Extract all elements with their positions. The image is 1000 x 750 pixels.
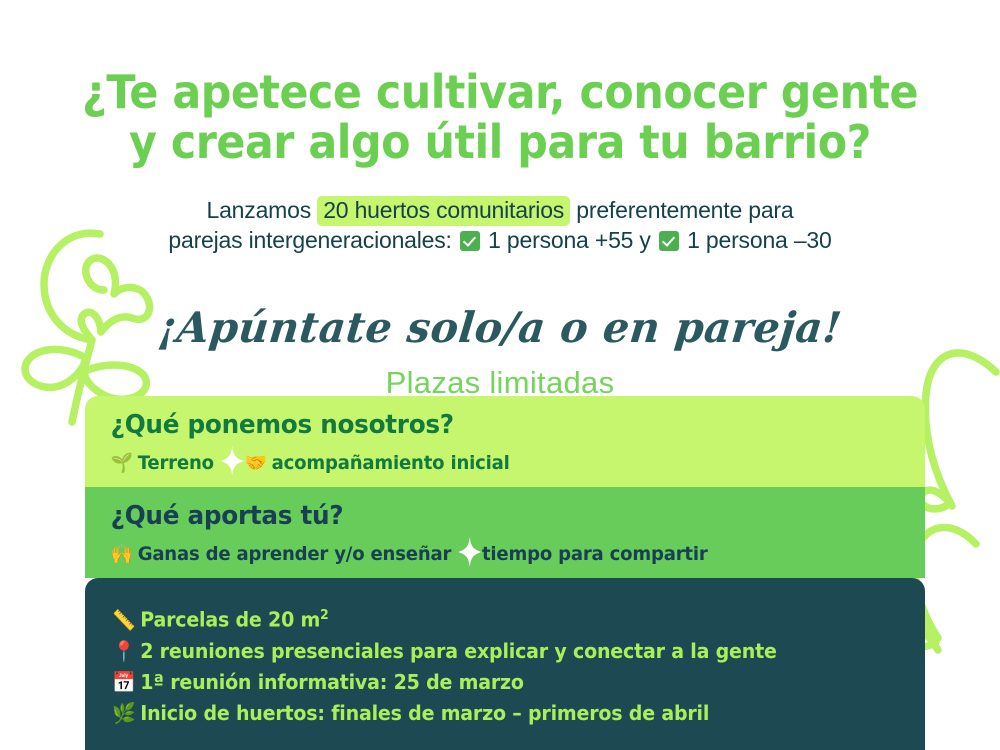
ruler-icon: 📏 [112,608,135,632]
panel-1-title: ¿Qué ponemos nosotros? [85,396,883,440]
panel-que-ponemos-nosotros: ¿Qué ponemos nosotros? 🌱Terreno 🤝acompañ… [85,396,925,487]
panel-2-title: ¿Qué aportas tú? [85,487,883,531]
panel-2-item-0-label: Ganas de aprender y/o enseñar [138,543,451,565]
raising-hands-icon: 🙌 [111,543,133,565]
sparkle-icon-2 [458,537,481,567]
details-list: 📏Parcelas de 20 m2 📍2 reuniones presenci… [85,578,925,729]
panel-1-item-0-label: Terreno [138,452,214,474]
subtitle: Lanzamos 20 huertos comunitarios prefere… [0,195,1000,255]
details-row-3-label: Inicio de huertos: finales de marzo – pr… [140,701,709,725]
panel-detalles: 📏Parcelas de 20 m2 📍2 reuniones presenci… [85,578,925,750]
subtitle-line2-middle: 1 persona +55 y [482,227,657,253]
sparkle-icon-1 [221,446,244,476]
details-row-2-label: 1ª reunión informativa: 25 de marzo [140,670,524,694]
seedling-icon: 🌱 [111,452,133,474]
panel-1-item-1-label: acompañamiento inicial [272,452,510,474]
details-row-1-label: 2 reuniones presenciales para explicar y… [140,639,776,663]
details-row-1: 📍2 reuniones presenciales para explicar … [112,636,884,667]
panel-2-item-1-label: tiempo para compartir [482,543,708,565]
calendar-icon: 📅 [112,670,135,694]
panel-2-items: 🙌Ganas de aprender y/o enseñar tiempo pa… [85,531,883,567]
details-row-3: 🌿Inicio de huertos: finales de marzo – p… [112,698,884,729]
handshake-icon: 🤝 [245,452,267,474]
highlight-huertos: 20 huertos comunitarios [317,196,570,226]
subtitle-line2-after: 1 persona –30 [681,227,832,253]
panel-1-items: 🌱Terreno 🤝acompañamiento inicial [85,440,883,476]
poster-canvas: ¿Te apetece cultivar, conocer gente y cr… [0,0,1000,750]
subtitle-text-before: Lanzamos [207,197,318,223]
script-callout: ¡Apúntate solo/a o en pareja! [7,302,992,354]
page-title: ¿Te apetece cultivar, conocer gente y cr… [35,67,965,167]
panel-que-aportas-tu: ¿Qué aportas tú? 🙌Ganas de aprender y/o … [85,487,925,578]
check-mark-icon-2 [659,231,679,251]
subtitle-line2-before: parejas intergeneracionales: [168,227,458,253]
details-row-0-superscript: 2 [320,608,328,623]
subtitle-text-after: preferentemente para [570,197,793,223]
herb-icon: 🌿 [112,701,135,725]
details-row-0-label: Parcelas de 20 m [140,608,320,632]
check-mark-icon-1 [460,231,480,251]
details-row-0: 📏Parcelas de 20 m2 [112,600,884,636]
details-row-2: 📅1ª reunión informativa: 25 de marzo [112,667,884,698]
headline-line-2: y crear algo útil para tu barrio? [35,117,965,167]
map-pin-icon: 📍 [112,639,135,663]
headline-line-1: ¿Te apetece cultivar, conocer gente [82,65,918,119]
